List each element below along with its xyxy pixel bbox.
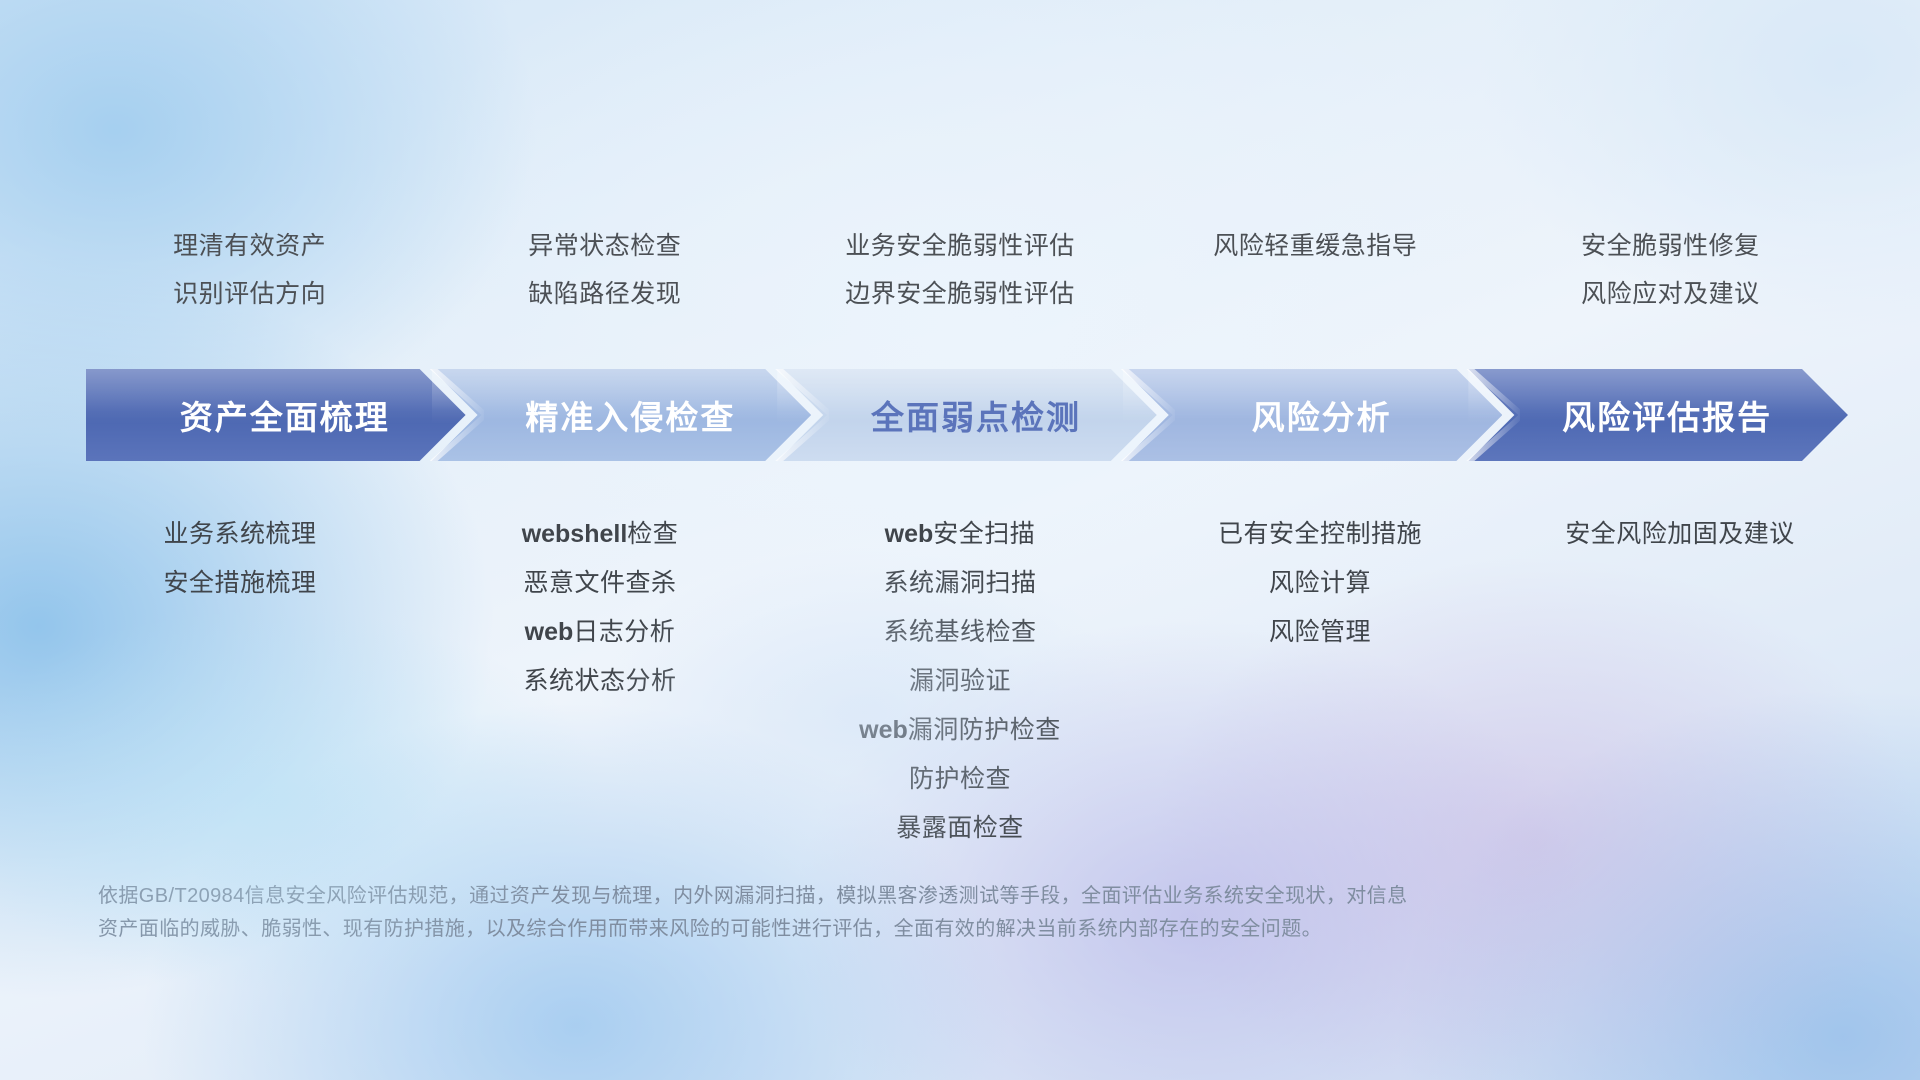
top-notes-risk-analysis: 风险轻重缓急指导 [1138,222,1493,318]
latin-token: web [859,716,908,744]
infographic-canvas: 理清有效资产 识别评估方向 异常状态检查 缺陷路径发现 业务安全脆弱性评估 边界… [0,0,1920,1080]
top-notes-row: 理清有效资产 识别评估方向 异常状态检查 缺陷路径发现 业务安全脆弱性评估 边界… [0,222,1920,318]
process-step-label: 精准入侵检查 [507,391,735,439]
process-step-asset-review[interactable]: 资产全面梳理 [86,369,466,461]
list-item: 漏洞验证 [780,657,1140,706]
list-item: 系统基线检查 [780,608,1140,657]
list-item: 已有安全控制措施 [1140,510,1500,559]
list-item: 风险计算 [1140,559,1500,608]
top-notes-risk-report: 安全脆弱性修复 风险应对及建议 [1493,222,1848,318]
top-note: 边界安全脆弱性评估 [782,270,1137,318]
latin-token: web [885,520,934,548]
list-item: 业务系统梳理 [60,510,420,559]
list-item: web漏洞防护检查 [780,706,1140,755]
list-item: 安全风险加固及建议 [1500,510,1860,559]
list-item: 安全措施梳理 [60,559,420,608]
process-chevron-banner: 资产全面梳理 精准入侵检查 全面弱点检测 风险分析 风险评估报告 [86,369,1848,461]
process-step-risk-analysis[interactable]: 风险分析 [1123,369,1503,461]
list-item: web安全扫描 [780,510,1140,559]
top-note: 风险应对及建议 [1493,270,1848,318]
footer-line: 资产面临的威胁、脆弱性、现有防护措施，以及综合作用而带来风险的可能性进行评估，全… [98,913,1618,946]
process-step-label: 全面弱点检测 [853,391,1081,439]
top-notes-asset-review: 理清有效资产 识别评估方向 [72,222,427,318]
process-step-risk-report[interactable]: 风险评估报告 [1468,369,1848,461]
process-step-weakness-detection[interactable]: 全面弱点检测 [777,369,1157,461]
top-notes-weakness-detection: 业务安全脆弱性评估 边界安全脆弱性评估 [782,222,1137,318]
items-asset-review: 业务系统梳理 安全措施梳理 [60,510,420,608]
items-intrusion-check: webshell检查 恶意文件查杀 web日志分析 系统状态分析 [420,510,780,706]
footer-description: 依据GB/T20984信息安全风险评估规范，通过资产发现与梳理，内外网漏洞扫描，… [98,880,1618,946]
list-item: webshell检查 [420,510,780,559]
top-note: 异常状态检查 [427,222,782,270]
list-item: 系统状态分析 [420,657,780,706]
footer-line: 依据GB/T20984信息安全风险评估规范，通过资产发现与梳理，内外网漏洞扫描，… [98,880,1618,913]
top-note: 理清有效资产 [72,222,427,270]
items-risk-analysis: 已有安全控制措施 风险计算 风险管理 [1140,510,1500,657]
items-weakness-detection: web安全扫描 系统漏洞扫描 系统基线检查 漏洞验证 web漏洞防护检查 防护检… [780,510,1140,853]
top-note: 安全脆弱性修复 [1493,222,1848,270]
latin-token: webshell [522,520,628,548]
process-step-intrusion-check[interactable]: 精准入侵检查 [432,369,812,461]
list-item: 防护检查 [780,755,1140,804]
list-item: 风险管理 [1140,608,1500,657]
process-step-label: 风险分析 [1234,391,1392,439]
process-step-label: 资产全面梳理 [162,391,390,439]
list-item: web日志分析 [420,608,780,657]
list-item: 系统漏洞扫描 [780,559,1140,608]
list-item: 暴露面检查 [780,804,1140,853]
top-note: 业务安全脆弱性评估 [782,222,1137,270]
process-step-label: 风险评估报告 [1544,391,1772,439]
list-item: 恶意文件查杀 [420,559,780,608]
items-risk-report: 安全风险加固及建议 [1500,510,1860,559]
top-note: 识别评估方向 [72,270,427,318]
stage-items-row: 业务系统梳理 安全措施梳理 webshell检查 恶意文件查杀 web日志分析 … [0,510,1920,853]
top-note: 风险轻重缓急指导 [1138,222,1493,270]
top-note: 缺陷路径发现 [427,270,782,318]
latin-token: web [525,618,574,646]
top-notes-intrusion-check: 异常状态检查 缺陷路径发现 [427,222,782,318]
